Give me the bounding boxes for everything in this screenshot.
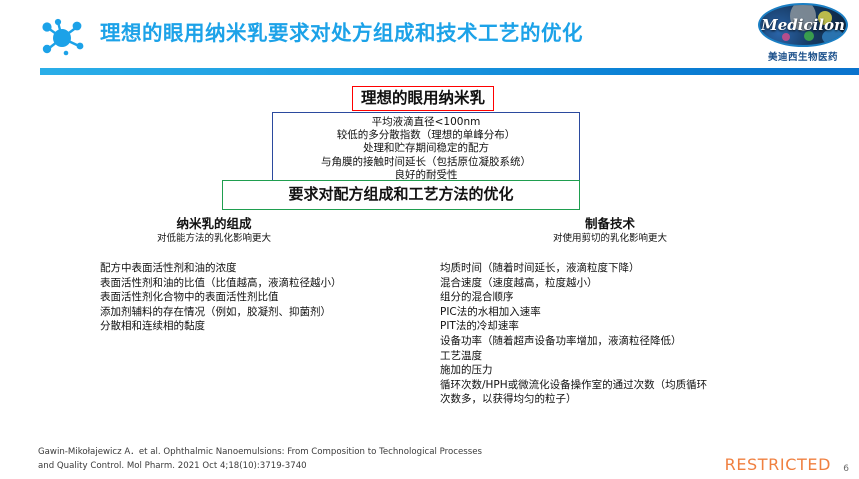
criteria-line: 平均液滴直径<100nm xyxy=(277,116,575,129)
brand-logo: Medicilon 美迪西生物医药 xyxy=(755,3,851,63)
left-column-heading: 纳米乳的组成 xyxy=(124,216,304,232)
list-item: 表面活性剂和油的比值（比值越高，液滴粒径越小） xyxy=(100,276,430,291)
list-item: 配方中表面活性剂和油的浓度 xyxy=(100,261,430,276)
ideal-nanoemulsion-title-box: 理想的眼用纳米乳 xyxy=(352,86,494,111)
right-column-list: 均质时间（随着时间延长，液滴粒度下降） 混合速度（速度越高，粒度越小） 组分的混… xyxy=(440,261,840,407)
list-item: PIT法的冷却速率 xyxy=(440,319,840,334)
requirement-text: 要求对配方组成和工艺方法的优化 xyxy=(225,185,577,204)
logo-blob xyxy=(782,33,790,41)
list-item: 表面活性剂化合物中的表面活性剂比值 xyxy=(100,290,430,305)
list-item: 混合速度（速度越高，粒度越小） xyxy=(440,276,840,291)
citation-line-2: and Quality Control. Mol Pharm. 2021 Oct… xyxy=(38,460,538,474)
citation: Gawin-Mikołajewicz A．et al. Ophthalmic N… xyxy=(38,446,538,473)
header-divider xyxy=(40,68,859,75)
list-item: 分散相和连续相的黏度 xyxy=(100,319,430,334)
list-item: 组分的混合顺序 xyxy=(440,290,840,305)
brand-name: Medicilon xyxy=(760,16,846,34)
criteria-line: 与角膜的接触时间延长（包括原位凝胶系统） xyxy=(277,156,575,169)
list-item: 均质时间（随着时间延长，液滴粒度下降） xyxy=(440,261,840,276)
criteria-line: 较低的多分散指数（理想的单峰分布） xyxy=(277,129,575,142)
requirement-box: 要求对配方组成和工艺方法的优化 xyxy=(222,180,580,210)
list-item: 设备功率（随着超声设备功率增加，液滴粒径降低） xyxy=(440,334,840,349)
list-item: 施加的压力 xyxy=(440,363,840,378)
ideal-criteria-box: 平均液滴直径<100nm 较低的多分散指数（理想的单峰分布） 处理和贮存期间稳定… xyxy=(272,112,580,187)
list-item: PIC法的水相加入速率 xyxy=(440,305,840,320)
slide-header: 理想的眼用纳米乳要求对处方组成和技术工艺的优化 xyxy=(0,0,859,78)
right-column-heading-group: 制备技术 对使用剪切的乳化影响更大 xyxy=(500,216,720,245)
brand-logo-oval: Medicilon xyxy=(758,3,848,47)
left-column-heading-group: 纳米乳的组成 对低能方法的乳化影响更大 xyxy=(124,216,304,245)
criteria-line: 处理和贮存期间稳定的配方 xyxy=(277,142,575,155)
list-item: 添加剂辅料的存在情况（例如，胶凝剂、抑菌剂） xyxy=(100,305,430,320)
brand-subtitle: 美迪西生物医药 xyxy=(755,49,851,63)
right-column-heading: 制备技术 xyxy=(500,216,720,232)
page-title: 理想的眼用纳米乳要求对处方组成和技术工艺的优化 xyxy=(100,18,583,48)
right-column-subheading: 对使用剪切的乳化影响更大 xyxy=(500,232,720,245)
citation-line-1: Gawin-Mikołajewicz A．et al. Ophthalmic N… xyxy=(38,446,538,460)
list-item: 循环次数/HPH或微流化设备操作室的通过次数（均质循环次数多，以获得均匀的粒子） xyxy=(440,378,710,407)
restricted-label: RESTRICTED xyxy=(725,455,831,474)
left-column-subheading: 对低能方法的乳化影响更大 xyxy=(124,232,304,245)
page-number: 6 xyxy=(843,464,849,474)
molecule-nanoparticle-icon xyxy=(36,16,92,58)
list-item: 工艺温度 xyxy=(440,349,840,364)
left-column-list: 配方中表面活性剂和油的浓度 表面活性剂和油的比值（比值越高，液滴粒径越小） 表面… xyxy=(100,261,430,334)
